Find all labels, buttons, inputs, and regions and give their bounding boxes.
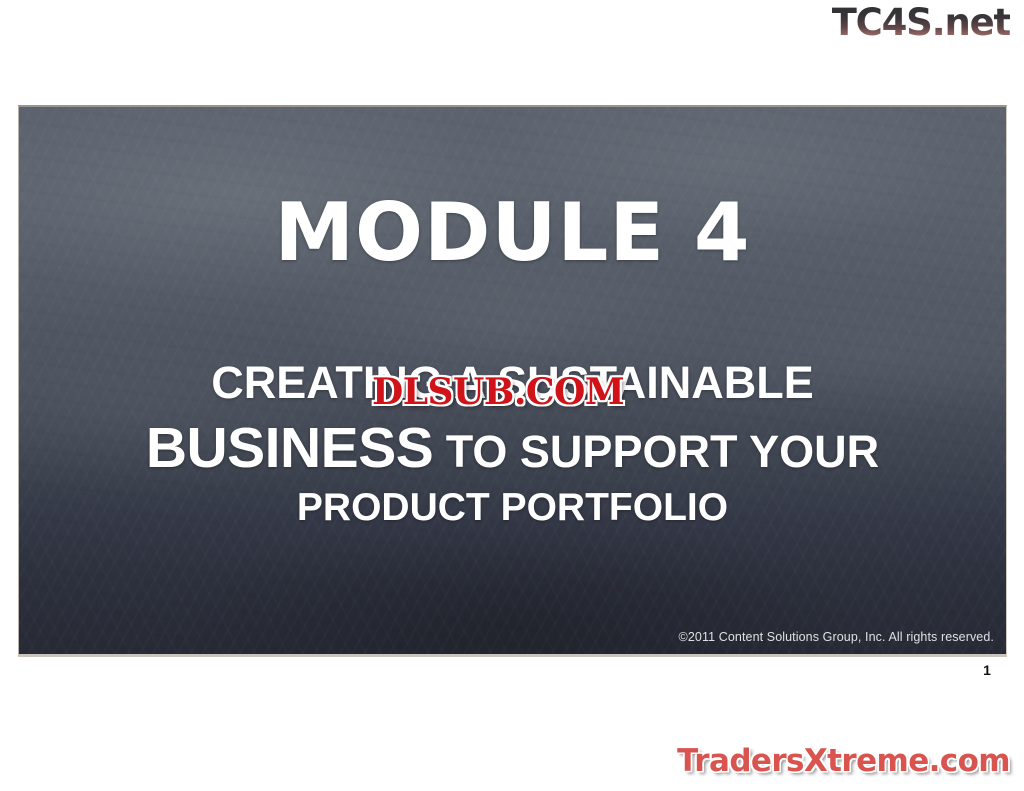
slide-page: { "header": { "site_logo": "TC4S.net" },…	[0, 0, 1024, 791]
footer-logo-tradersxtreme: TradersXtreme.com	[677, 746, 1010, 777]
site-logo-tc4s: TC4S.net	[832, 4, 1010, 41]
subtitle-line-2-rest: TO SUPPORT YOUR	[433, 426, 879, 477]
slide-title: MODULE 4	[19, 193, 1006, 273]
page-number: 1	[977, 662, 997, 678]
dlsub-watermark: DLSUB.COM	[372, 374, 624, 410]
copyright-notice: ©2011 Content Solutions Group, Inc. All …	[679, 630, 994, 644]
subtitle-line-3: PRODUCT PORTFOLIO	[19, 487, 1006, 529]
subtitle-line-2-emphasis: BUSINESS	[146, 416, 433, 480]
subtitle-line-2: BUSINESS TO SUPPORT YOUR	[19, 418, 1006, 480]
